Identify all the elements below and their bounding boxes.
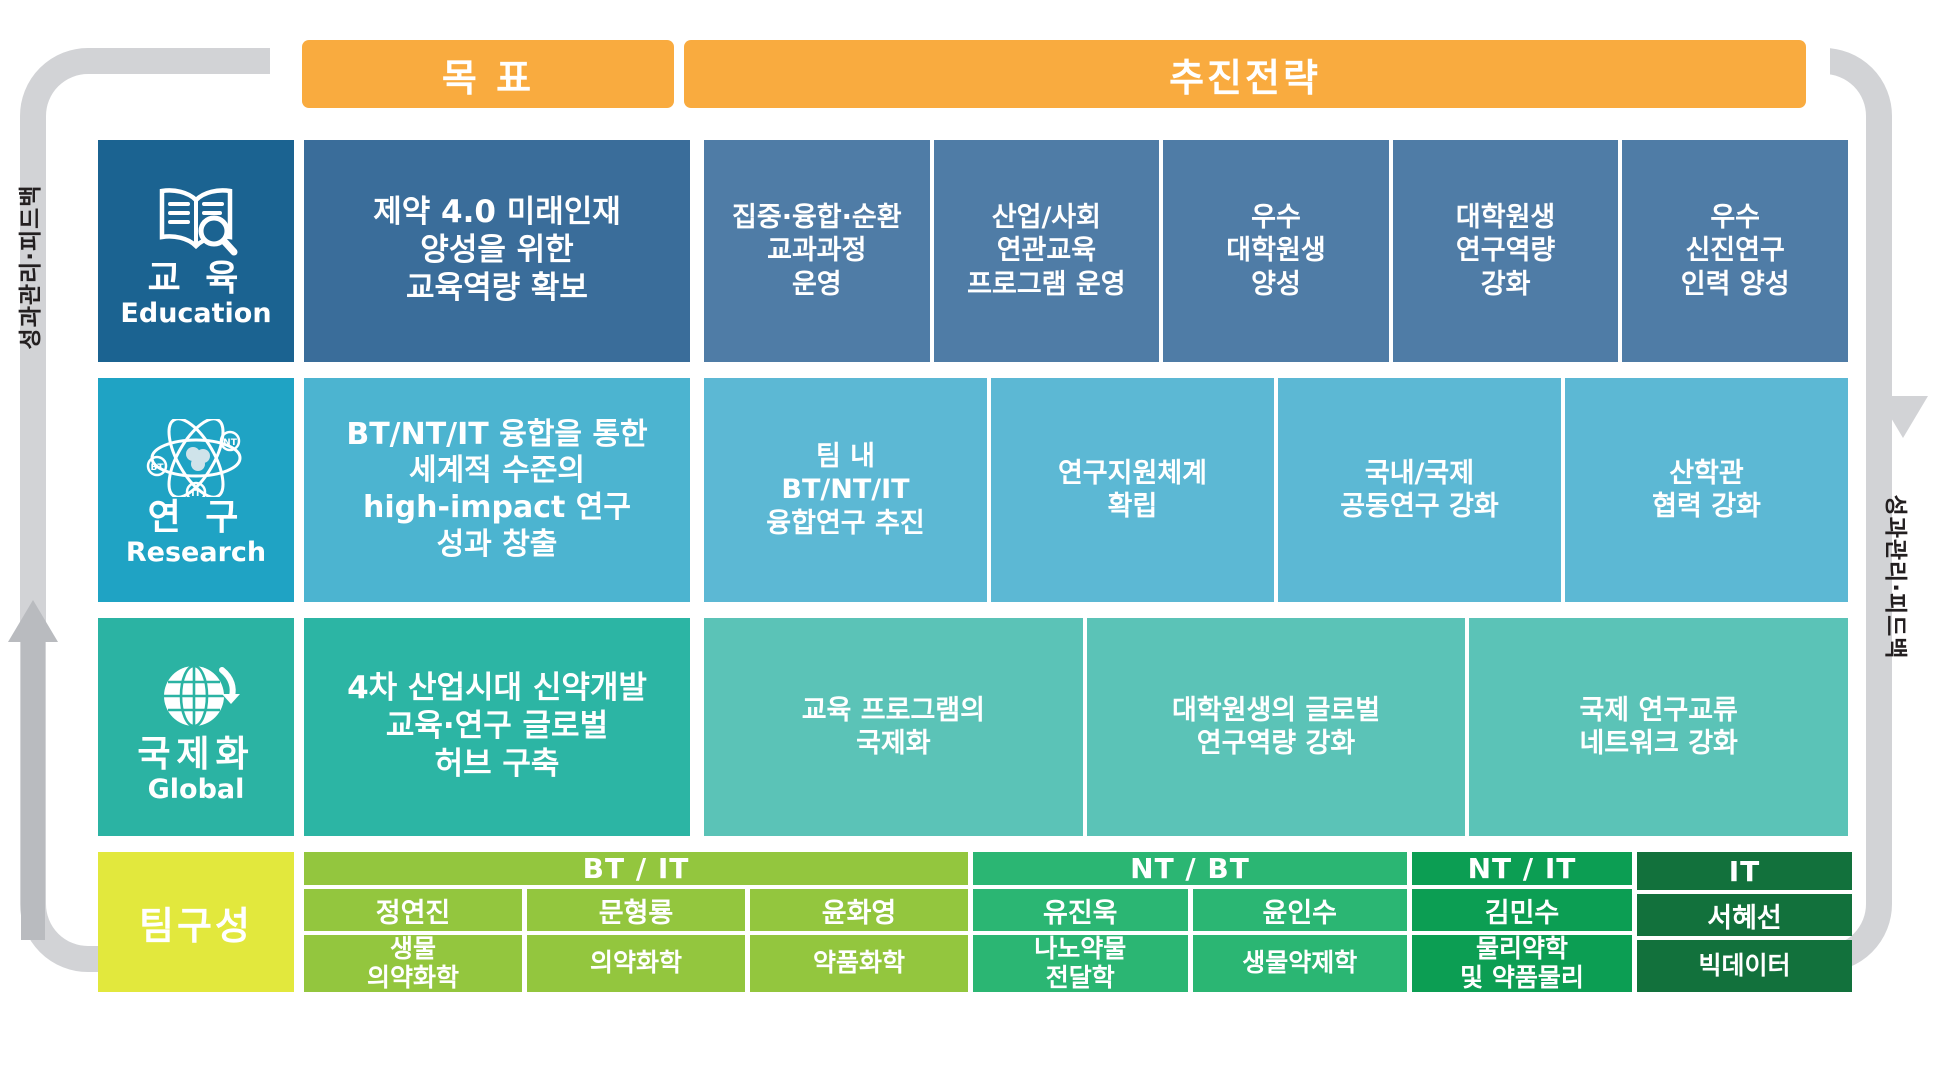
strategy-res-4: 산학관협력 강화 <box>1565 378 1848 602</box>
pillar-name-en-education: Education <box>120 299 271 329</box>
strategy-group-education: 집중·융합·순환교과과정운영 산업/사회연관교육프로그램 운영 우수대학원생양성… <box>704 140 1848 362</box>
strategy-glo-1: 교육 프로그램의국제화 <box>704 618 1083 836</box>
goal-education: 제약 4.0 미래인재양성을 위한교육역량 확보 <box>304 140 690 362</box>
pillar-name-ko-global: 국제화 <box>137 736 254 774</box>
open-book-magnifier-icon <box>148 180 244 258</box>
member-name: 문형룡 <box>527 889 745 931</box>
strategy-glo-3: 국제 연구교류네트워크 강화 <box>1469 618 1848 836</box>
team-group-nt-bt: NT / BT 유진욱 나노약물전달학 윤인수 생물약제학 <box>973 852 1407 992</box>
team-member: 윤인수 생물약제학 <box>1193 889 1408 992</box>
member-field: 물리약학및 약품물리 <box>1412 935 1632 992</box>
team-groups: BT / IT 정연진 생물의약화학 문형룡 의약화학 윤화영 약품화학 <box>304 852 1852 992</box>
team-members-nt-bt: 유진욱 나노약물전달학 윤인수 생물약제학 <box>973 889 1407 992</box>
header-goal: 목 표 <box>302 40 674 108</box>
diagram-canvas: 성과관리·피드백 성과관리·피드백 목 표 추진전략 교 육 Educati <box>0 0 1945 1081</box>
member-field: 빅데이터 <box>1637 940 1852 992</box>
member-name: 서혜선 <box>1637 894 1852 936</box>
pillar-name-ko-research: 연 구 <box>148 499 245 537</box>
row-education: 교 육 Education 제약 4.0 미래인재양성을 위한교육역량 확보 집… <box>98 140 1848 362</box>
team-members-it: 서혜선 빅데이터 <box>1637 894 1852 992</box>
svg-text:BT: BT <box>151 463 165 473</box>
strategy-res-3: 국내/국제공동연구 강화 <box>1278 378 1561 602</box>
pillar-global: 국제화 Global <box>98 618 294 836</box>
team-tech-bt-it: BT / IT <box>304 852 968 885</box>
team-members-nt-it: 김민수 물리약학및 약품물리 <box>1412 889 1632 992</box>
team-composition-label: 팀구성 <box>98 852 294 992</box>
member-name: 김민수 <box>1412 889 1632 931</box>
member-name: 유진욱 <box>973 889 1188 931</box>
strategy-group-research: 팀 내BT/NT/IT융합연구 추진 연구지원체계확립 국내/국제공동연구 강화… <box>704 378 1848 602</box>
member-field: 약품화학 <box>750 935 968 992</box>
team-member: 윤화영 약품화학 <box>750 889 968 992</box>
header-strategy: 추진전략 <box>684 40 1806 108</box>
strategy-glo-2: 대학원생의 글로벌연구역량 강화 <box>1087 618 1466 836</box>
strategy-edu-2: 산업/사회연관교육프로그램 운영 <box>934 140 1160 362</box>
team-member: 김민수 물리약학및 약품물리 <box>1412 889 1632 992</box>
goal-research: BT/NT/IT 융합을 통한세계적 수준의high-impact 연구성과 창… <box>304 378 690 602</box>
loop-arrow-up-icon <box>8 600 58 642</box>
team-member: 서혜선 빅데이터 <box>1637 894 1852 992</box>
team-group-bt-it: BT / IT 정연진 생물의약화학 문형룡 의약화학 윤화영 약품화학 <box>304 852 968 992</box>
row-research: BT NT IT 연 구 Research BT/NT/IT 융합을 통한세계적… <box>98 378 1848 602</box>
team-member: 유진욱 나노약물전달학 <box>973 889 1188 992</box>
strategy-res-1: 팀 내BT/NT/IT융합연구 추진 <box>704 378 987 602</box>
row-team-composition: 팀구성 BT / IT 정연진 생물의약화학 문형룡 의약화학 윤화영 약품화학 <box>98 852 1848 992</box>
pillar-name-en-research: Research <box>126 538 266 568</box>
team-tech-nt-it: NT / IT <box>1412 852 1632 885</box>
svg-text:IT: IT <box>191 489 201 497</box>
member-name: 윤인수 <box>1193 889 1408 931</box>
pillar-education: 교 육 Education <box>98 140 294 362</box>
team-members-bt-it: 정연진 생물의약화학 문형룡 의약화학 윤화영 약품화학 <box>304 889 968 992</box>
strategy-edu-4: 대학원생연구역량강화 <box>1393 140 1619 362</box>
strategy-edu-3: 우수대학원생양성 <box>1163 140 1389 362</box>
member-field: 생물의약화학 <box>304 935 522 992</box>
svg-text:NT: NT <box>223 438 238 448</box>
loop-segment-left <box>21 640 45 940</box>
team-tech-nt-bt: NT / BT <box>973 852 1407 885</box>
team-member: 정연진 생물의약화학 <box>304 889 522 992</box>
team-group-nt-it: NT / IT 김민수 물리약학및 약품물리 <box>1412 852 1632 992</box>
team-group-it: IT 서혜선 빅데이터 <box>1637 852 1852 992</box>
team-member: 문형룡 의약화학 <box>527 889 745 992</box>
loop-arrow-down-icon <box>1878 396 1928 438</box>
pillar-name-en-global: Global <box>148 775 245 805</box>
pillar-research: BT NT IT 연 구 Research <box>98 378 294 602</box>
member-name: 윤화영 <box>750 889 968 931</box>
strategy-group-global: 교육 프로그램의국제화 대학원생의 글로벌연구역량 강화 국제 연구교류네트워크… <box>704 618 1848 836</box>
globe-arrow-icon <box>152 656 240 734</box>
pillar-name-ko-education: 교 육 <box>148 260 245 298</box>
strategy-edu-1: 집중·융합·순환교과과정운영 <box>704 140 930 362</box>
feedback-label-left: 성과관리·피드백 <box>11 177 45 357</box>
row-global: 국제화 Global 4차 산업시대 신약개발교육·연구 글로벌허브 구축 교육… <box>98 618 1848 836</box>
strategy-edu-5: 우수신진연구인력 양성 <box>1622 140 1848 362</box>
feedback-label-right: 성과관리·피드백 <box>1881 487 1915 667</box>
atom-icon: BT NT IT <box>144 419 248 497</box>
strategy-res-2: 연구지원체계확립 <box>991 378 1274 602</box>
member-name: 정연진 <box>304 889 522 931</box>
member-field: 생물약제학 <box>1193 935 1408 992</box>
member-field: 나노약물전달학 <box>973 935 1188 992</box>
team-tech-it: IT <box>1637 852 1852 890</box>
member-field: 의약화학 <box>527 935 745 992</box>
goal-global: 4차 산업시대 신약개발교육·연구 글로벌허브 구축 <box>304 618 690 836</box>
